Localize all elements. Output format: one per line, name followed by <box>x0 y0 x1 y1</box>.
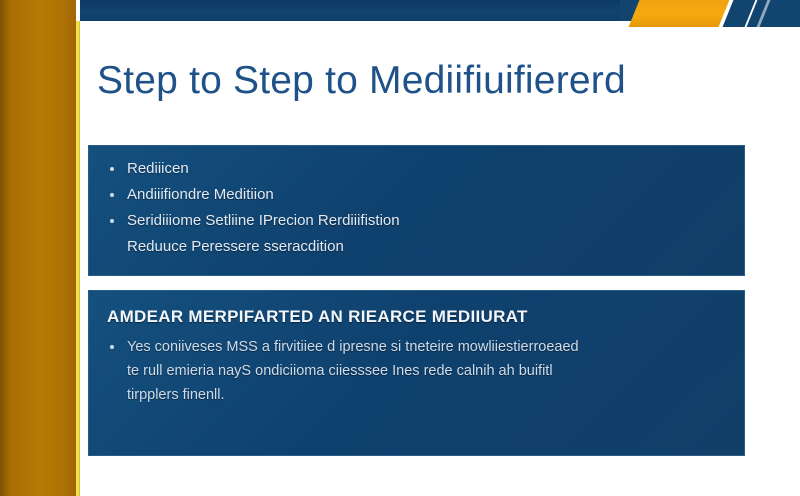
bullet-text: Rediiicen <box>127 156 726 181</box>
list-item: Rediiicen <box>89 156 744 181</box>
panel-body: Yes coniiveses MSS a firvitiiee d ipresn… <box>89 327 744 407</box>
bullet-dot-icon <box>110 219 114 223</box>
orange-parallelogram-icon <box>629 0 730 27</box>
list-item: Andiiifiondre Meditiion <box>89 182 744 207</box>
list-item: Seridiiiome Setliine IPrecion Rerdiiifis… <box>89 208 744 233</box>
yellow-vertical-rule-shadow <box>79 21 80 496</box>
slide-title: Step to Step to Mediifiuifiererd <box>97 58 737 104</box>
content-panel-two: AMDEAR MERPIFARTED AN RIEARCE MEDIIURAT … <box>88 290 745 456</box>
panel-heading: AMDEAR MERPIFARTED AN RIEARCE MEDIIURAT <box>89 291 744 327</box>
corner-decoration <box>620 0 800 34</box>
bullet-dot-icon <box>110 167 114 171</box>
bullet-text: Seridiiiome Setliine IPrecion Rerdiiifis… <box>127 208 726 233</box>
body-line: tirpplers finenll. <box>127 383 728 407</box>
bullet-subline-text: Reduuce Peressere sseracdition <box>89 234 744 259</box>
list-item-continuation: Reduuce Peressere sseracdition <box>89 234 744 259</box>
bottom-white-area <box>80 456 800 496</box>
top-blue-bar <box>80 0 640 21</box>
presentation-slide: Step to Step to Mediifiuifiererd Rediiic… <box>0 0 800 496</box>
orange-left-band <box>0 0 76 496</box>
body-line: Yes coniiveses MSS a firvitiiee d ipresn… <box>127 335 728 359</box>
body-line: te rull emieria nayS ondiciioma ciiessse… <box>127 359 728 383</box>
content-panel-one: Rediiicen Andiiifiondre Meditiion Seridi… <box>88 145 745 276</box>
bullet-dot-icon <box>110 193 114 197</box>
blue-parallelogram-large-icon <box>747 0 800 27</box>
bullet-dot-icon <box>110 345 114 349</box>
bullet-list-one: Rediiicen Andiiifiondre Meditiion Seridi… <box>89 146 744 259</box>
bullet-text: Andiiifiondre Meditiion <box>127 182 726 207</box>
